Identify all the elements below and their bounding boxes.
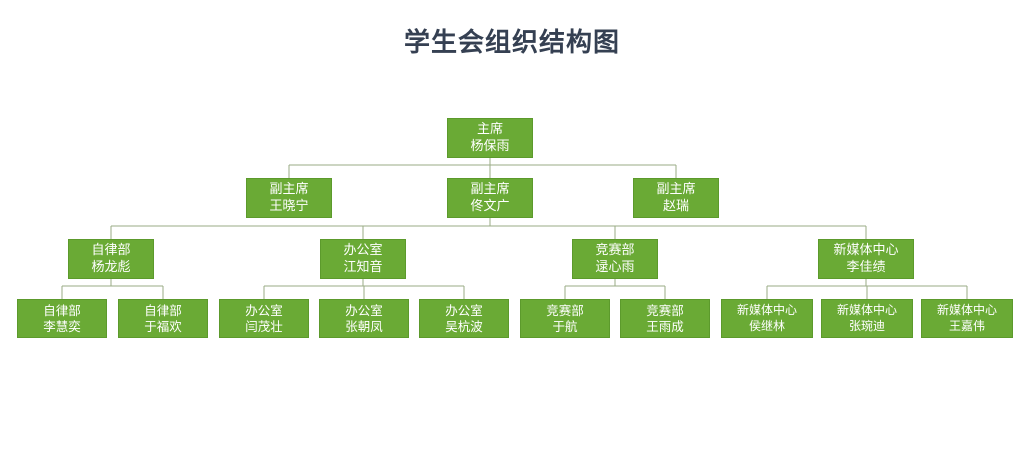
org-node[interactable]: 自律部杨龙彪 [68,239,154,279]
org-node-person: 王嘉伟 [949,319,985,334]
org-node-department: 新媒体中心 [833,242,898,259]
org-node-department: 副主席 [470,181,509,198]
org-node-department: 办公室 [445,303,483,319]
org-node-department: 竞赛部 [595,242,634,259]
org-node[interactable]: 竞赛部王雨成 [620,299,710,338]
connector-layer [0,0,1024,463]
org-node-person: 杨龙彪 [91,259,130,276]
org-node[interactable]: 新媒体中心张琬迪 [821,299,913,338]
org-node-person: 吴杭波 [445,319,483,335]
org-node-person: 王雨成 [646,319,684,335]
org-node[interactable]: 副主席佟文广 [447,178,533,218]
org-node-person: 赵瑞 [663,198,689,215]
org-node-department: 自律部 [91,242,130,259]
org-node[interactable]: 竞赛部于航 [520,299,610,338]
org-node-person: 张琬迪 [849,319,885,334]
org-node[interactable]: 自律部于福欢 [118,299,208,338]
org-node-department: 自律部 [144,303,182,319]
org-node-department: 副主席 [656,181,695,198]
org-node[interactable]: 办公室闫茂壮 [219,299,309,338]
org-node[interactable]: 办公室张朝凤 [319,299,409,338]
org-node-person: 张朝凤 [345,319,383,335]
org-node[interactable]: 新媒体中心王嘉伟 [921,299,1013,338]
org-node-department: 新媒体中心 [837,303,897,318]
org-node-person: 王晓宁 [269,198,308,215]
org-node-department: 办公室 [345,303,383,319]
page-title: 学生会组织结构图 [0,22,1024,59]
org-node[interactable]: 主席杨保雨 [447,118,533,158]
org-node[interactable]: 副主席王晓宁 [246,178,332,218]
org-node[interactable]: 新媒体中心侯继林 [721,299,813,338]
org-node[interactable]: 竞赛部逯心雨 [572,239,658,279]
org-node[interactable]: 自律部李慧奕 [17,299,107,338]
org-node-department: 办公室 [343,242,382,259]
org-node-department: 新媒体中心 [737,303,797,318]
org-node-person: 李慧奕 [43,319,81,335]
org-node-person: 杨保雨 [470,138,509,155]
org-node[interactable]: 副主席赵瑞 [633,178,719,218]
org-node-department: 主席 [477,121,503,138]
org-node-person: 江知音 [343,259,382,276]
org-node-person: 逯心雨 [595,259,634,276]
org-node-department: 竞赛部 [646,303,684,319]
org-node-department: 新媒体中心 [937,303,997,318]
org-node-person: 佟文广 [470,198,509,215]
org-node[interactable]: 办公室江知音 [320,239,406,279]
org-node-person: 侯继林 [749,319,785,334]
org-node-person: 于福欢 [144,319,182,335]
org-node-person: 李佳绩 [846,259,885,276]
org-node-department: 办公室 [245,303,283,319]
org-node-department: 自律部 [43,303,81,319]
org-chart-canvas: 学生会组织结构图 主席杨保雨副主席王晓宁副主席佟文广副主席赵瑞自律部杨龙彪办公室… [0,0,1024,463]
org-node-person: 闫茂壮 [245,319,283,335]
org-node[interactable]: 办公室吴杭波 [419,299,509,338]
org-node[interactable]: 新媒体中心李佳绩 [818,239,914,279]
org-node-department: 竞赛部 [546,303,584,319]
org-node-department: 副主席 [269,181,308,198]
org-node-person: 于航 [552,319,577,335]
